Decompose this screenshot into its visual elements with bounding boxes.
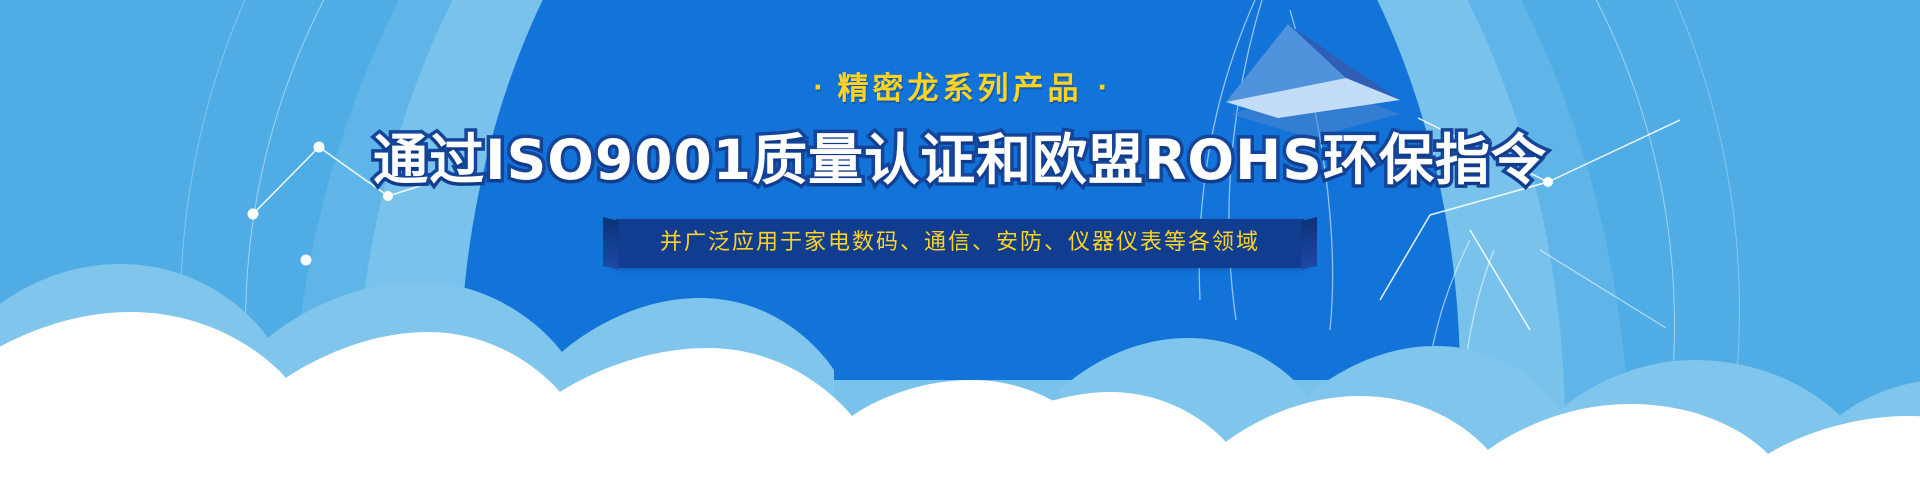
promo-banner: · 精密龙系列产品 · 通过ISO9001质量认证和欧盟ROHS环保指令 并广泛… xyxy=(0,0,1920,480)
subtitle-wrap: 并广泛应用于家电数码、通信、安防、仪器仪表等各领域 xyxy=(0,219,1920,268)
eyebrow-text: 精密龙系列产品 xyxy=(838,71,1083,107)
headline-text: 通过ISO9001质量认证和欧盟ROHS环保指令 xyxy=(0,131,1920,189)
subtitle-bar: 并广泛应用于家电数码、通信、安防、仪器仪表等各领域 xyxy=(616,219,1304,268)
eyebrow-line: · 精密龙系列产品 · xyxy=(0,74,1920,105)
eyebrow-left-dot: · xyxy=(813,73,823,103)
subtitle-text: 并广泛应用于家电数码、通信、安防、仪器仪表等各领域 xyxy=(660,230,1260,255)
eyebrow-right-dot: · xyxy=(1097,73,1107,103)
banner-content: · 精密龙系列产品 · 通过ISO9001质量认证和欧盟ROHS环保指令 并广泛… xyxy=(0,0,1920,268)
